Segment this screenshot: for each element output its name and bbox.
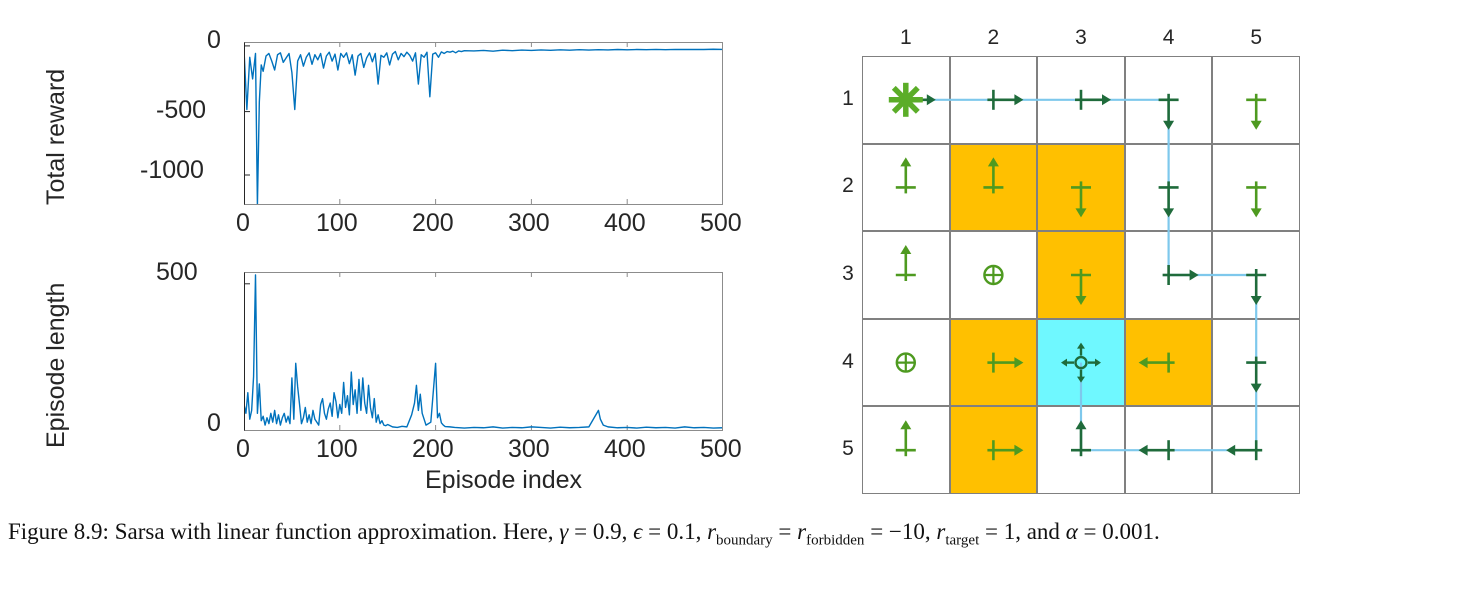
grid-cell-r4c3[interactable] (1037, 319, 1125, 407)
caption-alpha-value: 0.001 (1102, 519, 1154, 544)
xtick-0-top: 0 (236, 209, 250, 238)
xtick-200-top: 200 (412, 209, 454, 238)
grid-cell-r5c2[interactable] (950, 406, 1038, 494)
xtick-300: 300 (508, 435, 550, 464)
grid-cell-r4c1[interactable] (862, 319, 950, 407)
grid-cell-r4c2[interactable] (950, 319, 1038, 407)
grid-cell-r3c3[interactable] (1037, 231, 1125, 319)
chart-episode-length-ylabel: Episode length (42, 283, 71, 448)
caption-r-boundary: rboundary (707, 519, 773, 544)
figure-caption: Figure 8.9: Sarsa with linear function a… (8, 515, 1470, 558)
grid-cell-r1c4[interactable] (1125, 56, 1213, 144)
caption-epsilon: ϵ (633, 519, 642, 544)
ytick-label-500: -500 (156, 96, 206, 125)
grid-cell-r3c1[interactable] (862, 231, 950, 319)
grid-cell-r3c2[interactable] (950, 231, 1038, 319)
caption-r-target: rtarget (936, 519, 979, 544)
ytick-label-0: 0 (207, 26, 221, 55)
grid-cell-r4c5[interactable] (1212, 319, 1300, 407)
episode-length-svg (244, 272, 723, 431)
xtick-400: 400 (604, 435, 646, 464)
caption-epsilon-value: 0.1 (667, 519, 696, 544)
grid-cell-r2c4[interactable] (1125, 144, 1213, 232)
grid-cell-r5c1[interactable] (862, 406, 950, 494)
ytick-label-1000: -1000 (140, 156, 204, 185)
grid-cell-r3c5[interactable] (1212, 231, 1300, 319)
grid-cell-r5c4[interactable] (1125, 406, 1213, 494)
caption-r-penalty-value: −10 (889, 519, 925, 544)
grid-column-header-1: 1 (886, 26, 926, 50)
gridworld-grid (862, 56, 1300, 498)
caption-gamma: γ (559, 519, 568, 544)
xtick-200: 200 (412, 435, 454, 464)
caption-r-target-value: 1 (1004, 519, 1016, 544)
chart-total-reward-plot (244, 42, 723, 205)
grid-cell-r1c3[interactable] (1037, 56, 1125, 144)
grid-cell-r1c5[interactable] (1212, 56, 1300, 144)
xtick-0: 0 (236, 435, 250, 464)
grid-cell-r1c2[interactable] (950, 56, 1038, 144)
total-reward-svg (244, 42, 723, 205)
grid-cell-r2c3[interactable] (1037, 144, 1125, 232)
grid-column-header-5: 5 (1236, 26, 1276, 50)
grid-row-header-5: 5 (837, 437, 859, 461)
caption-alpha: α (1066, 519, 1078, 544)
caption-prefix: Figure 8.9: (8, 519, 109, 544)
xtick-300-top: 300 (508, 209, 550, 238)
xtick-500: 500 (700, 435, 742, 464)
xtick-500-top: 500 (700, 209, 742, 238)
caption-text: Sarsa with linear function approximation… (115, 519, 554, 544)
xtick-100: 100 (316, 435, 358, 464)
gridworld-panel: 12345 12345 (855, 18, 1315, 508)
xtick-100-top: 100 (316, 209, 358, 238)
grid-cell-r2c1[interactable] (862, 144, 950, 232)
grid-row-header-4: 4 (837, 350, 859, 374)
grid-cell-r3c4[interactable] (1125, 231, 1213, 319)
grid-row-header-3: 3 (837, 262, 859, 286)
chart-episode-length-plot (244, 272, 723, 431)
grid-cell-r1c1[interactable] (862, 56, 950, 144)
grid-cell-r5c3[interactable] (1037, 406, 1125, 494)
grid-cell-r5c5[interactable] (1212, 406, 1300, 494)
grid-row-header-2: 2 (837, 174, 859, 198)
ytick-label-0-bottom: 0 (207, 409, 221, 438)
grid-cell-r2c2[interactable] (950, 144, 1038, 232)
caption-r-forbidden: rforbidden (797, 519, 864, 544)
ytick-label-500-bottom: 500 (156, 258, 198, 287)
grid-column-header-3: 3 (1061, 26, 1101, 50)
chart-xlabel: Episode index (425, 466, 582, 495)
chart-total-reward-ylabel: Total reward (42, 69, 71, 205)
grid-column-header-2: 2 (973, 26, 1013, 50)
grid-cell-r2c5[interactable] (1212, 144, 1300, 232)
left-figure-panel: Total reward 0 -500 -1000 (0, 0, 800, 505)
grid-row-header-1: 1 (837, 87, 859, 111)
grid-column-header-4: 4 (1149, 26, 1189, 50)
grid-cell-r4c4[interactable] (1125, 319, 1213, 407)
xtick-400-top: 400 (604, 209, 646, 238)
caption-gamma-value: 0.9 (593, 519, 622, 544)
